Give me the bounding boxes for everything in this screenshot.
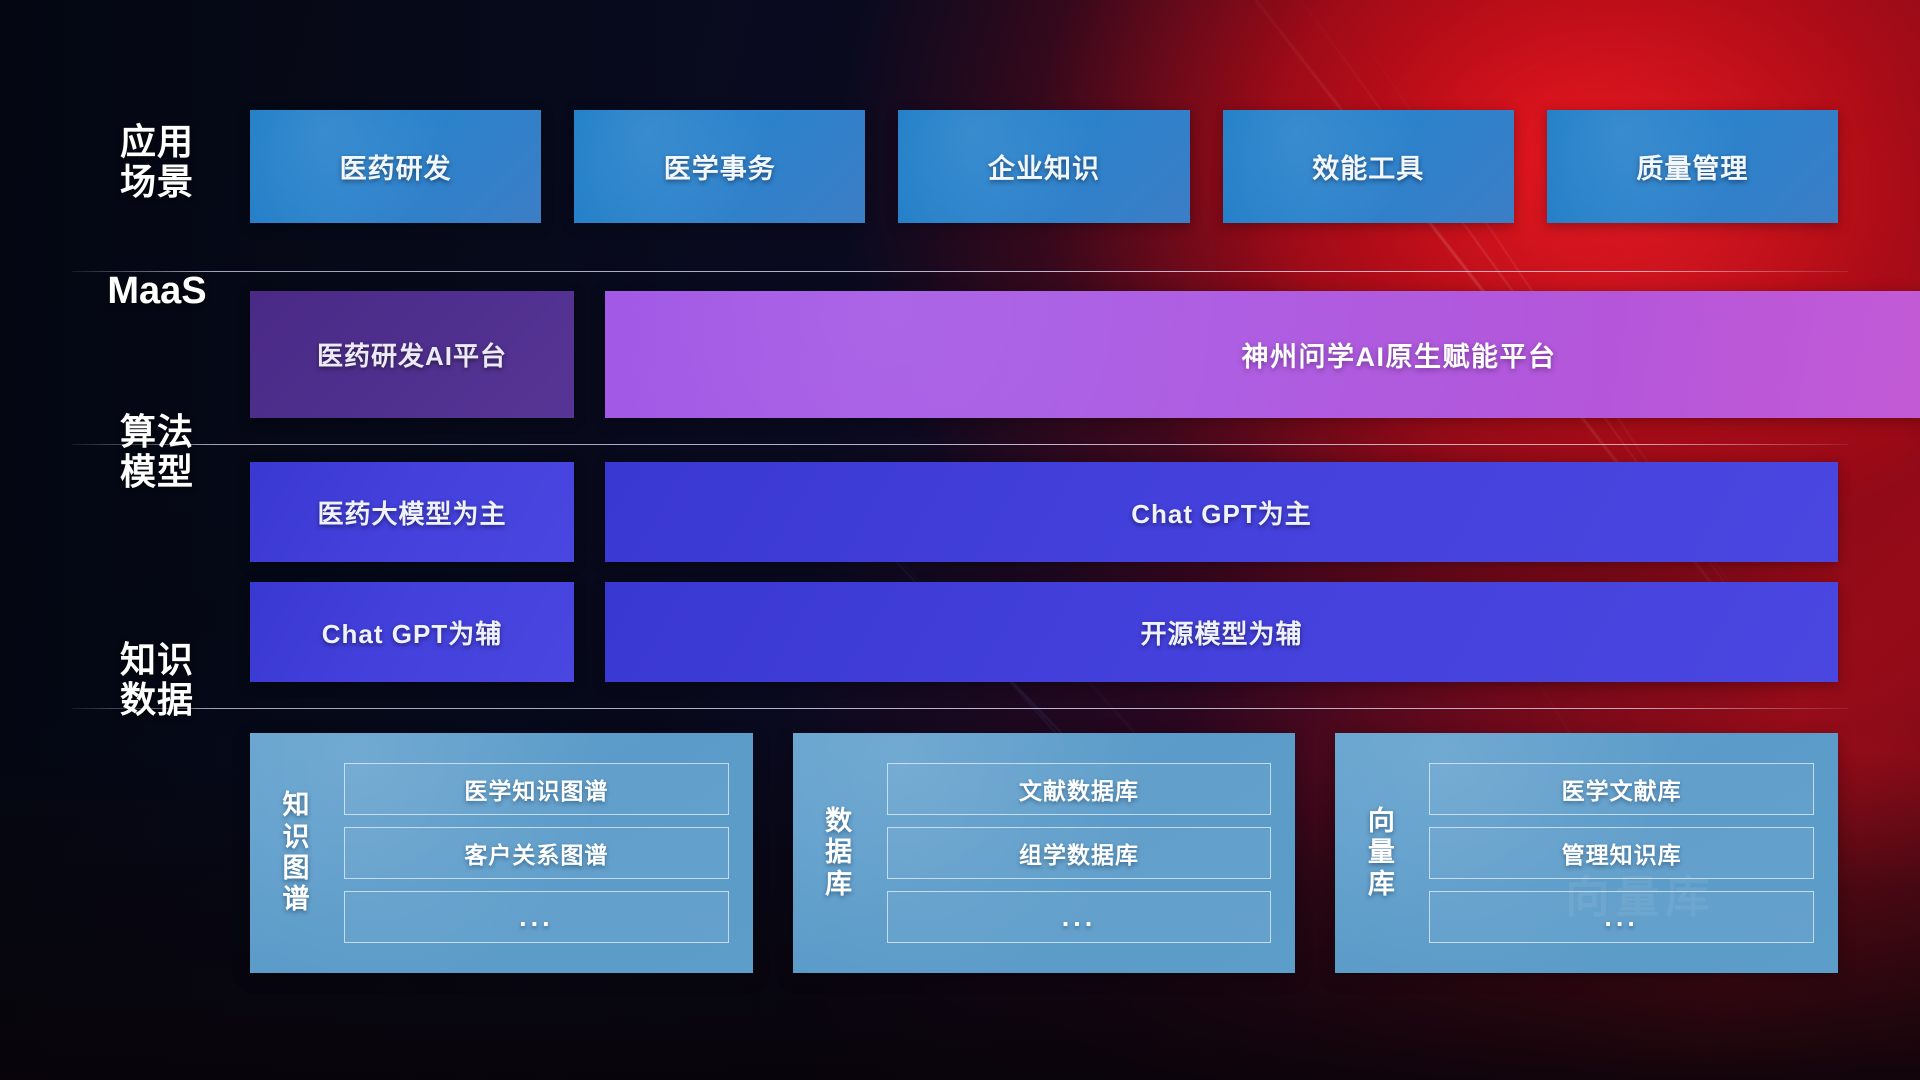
vlabel-char: 图	[283, 853, 310, 884]
knowledge-item-list: 文献数据库 组学数据库 ...	[875, 763, 1282, 943]
maas-row: 医药研发AI平台 神州问学AI原生赋能平台	[250, 291, 1838, 418]
knowledge-item[interactable]: 文献数据库	[887, 763, 1272, 815]
knowledge-group-label: 向 量 库	[1345, 806, 1417, 900]
vlabel-char: 库	[825, 869, 852, 900]
knowledge-item[interactable]: 管理知识库	[1429, 827, 1814, 879]
algorithm-box-chatgpt-primary[interactable]: Chat GPT为主	[605, 462, 1838, 562]
knowledge-data-row: 知 识 图 谱 医学知识图谱 客户关系图谱 ... 数 据 库 文献数据库 组学…	[250, 733, 1838, 973]
row-divider	[72, 708, 1848, 709]
vlabel-char: 库	[1368, 869, 1395, 900]
knowledge-item-list: 医学文献库 管理知识库 ...	[1417, 763, 1824, 943]
app-scenario-box[interactable]: 医药研发	[250, 110, 541, 223]
algorithm-model-row: 医药大模型为主 Chat GPT为主 Chat GPT为辅 开源模型为辅	[250, 462, 1838, 682]
row-label-application: 应用 场景	[72, 122, 242, 203]
vlabel-char: 数	[825, 806, 852, 837]
app-scenario-box[interactable]: 医学事务	[574, 110, 865, 223]
row-label-line: 知识	[72, 640, 242, 680]
vlabel-char: 向	[1368, 806, 1395, 837]
row-label-line: 数据	[72, 680, 242, 720]
maas-platform-box-shenzhou[interactable]: 神州问学AI原生赋能平台	[605, 291, 1920, 418]
knowledge-item[interactable]: 组学数据库	[887, 827, 1272, 879]
row-divider	[72, 444, 1848, 445]
algorithm-row-primary: 医药大模型为主 Chat GPT为主	[250, 462, 1838, 562]
maas-platform-box-pharma[interactable]: 医药研发AI平台	[250, 291, 574, 418]
knowledge-group-vector: 向量库 向 量 库 医学文献库 管理知识库 ...	[1335, 733, 1838, 973]
knowledge-item-more[interactable]: ...	[344, 891, 729, 943]
knowledge-group-label: 数 据 库	[803, 806, 875, 900]
row-label-knowledge: 知识 数据	[72, 640, 242, 721]
row-label-line: 场景	[72, 162, 242, 202]
vlabel-char: 识	[283, 822, 310, 853]
app-scenario-box[interactable]: 效能工具	[1223, 110, 1514, 223]
row-divider	[72, 271, 1848, 272]
row-label-line: 算法	[72, 412, 242, 452]
knowledge-item-more[interactable]: ...	[1429, 891, 1814, 943]
algorithm-box-chatgpt-secondary[interactable]: Chat GPT为辅	[250, 582, 574, 682]
knowledge-group-database: 数 据 库 文献数据库 组学数据库 ...	[793, 733, 1296, 973]
row-label-maas: MaaS	[72, 270, 242, 313]
row-label-line: MaaS	[72, 270, 242, 313]
knowledge-item[interactable]: 医学知识图谱	[344, 763, 729, 815]
knowledge-group-graph: 知 识 图 谱 医学知识图谱 客户关系图谱 ...	[250, 733, 753, 973]
app-scenario-box[interactable]: 企业知识	[898, 110, 1189, 223]
algorithm-box-pharma-primary[interactable]: 医药大模型为主	[250, 462, 574, 562]
vlabel-char: 量	[1368, 837, 1395, 868]
knowledge-item-list: 医学知识图谱 客户关系图谱 ...	[332, 763, 739, 943]
app-scenario-box[interactable]: 质量管理	[1547, 110, 1838, 223]
knowledge-item[interactable]: 医学文献库	[1429, 763, 1814, 815]
vlabel-char: 据	[825, 837, 852, 868]
vlabel-char: 谱	[283, 884, 310, 915]
row-label-algorithm: 算法 模型	[72, 412, 242, 493]
knowledge-group-label: 知 识 图 谱	[260, 790, 332, 915]
algorithm-box-opensource-secondary[interactable]: 开源模型为辅	[605, 582, 1838, 682]
application-scenarios-row: 医药研发 医学事务 企业知识 效能工具 质量管理	[250, 110, 1838, 223]
architecture-diagram: 应用 场景 医药研发 医学事务 企业知识 效能工具 质量管理 MaaS 医药研发…	[0, 0, 1920, 1080]
knowledge-item[interactable]: 客户关系图谱	[344, 827, 729, 879]
row-label-line: 模型	[72, 452, 242, 492]
algorithm-row-secondary: Chat GPT为辅 开源模型为辅	[250, 582, 1838, 682]
knowledge-item-more[interactable]: ...	[887, 891, 1272, 943]
vlabel-char: 知	[283, 790, 310, 821]
row-label-line: 应用	[72, 122, 242, 162]
